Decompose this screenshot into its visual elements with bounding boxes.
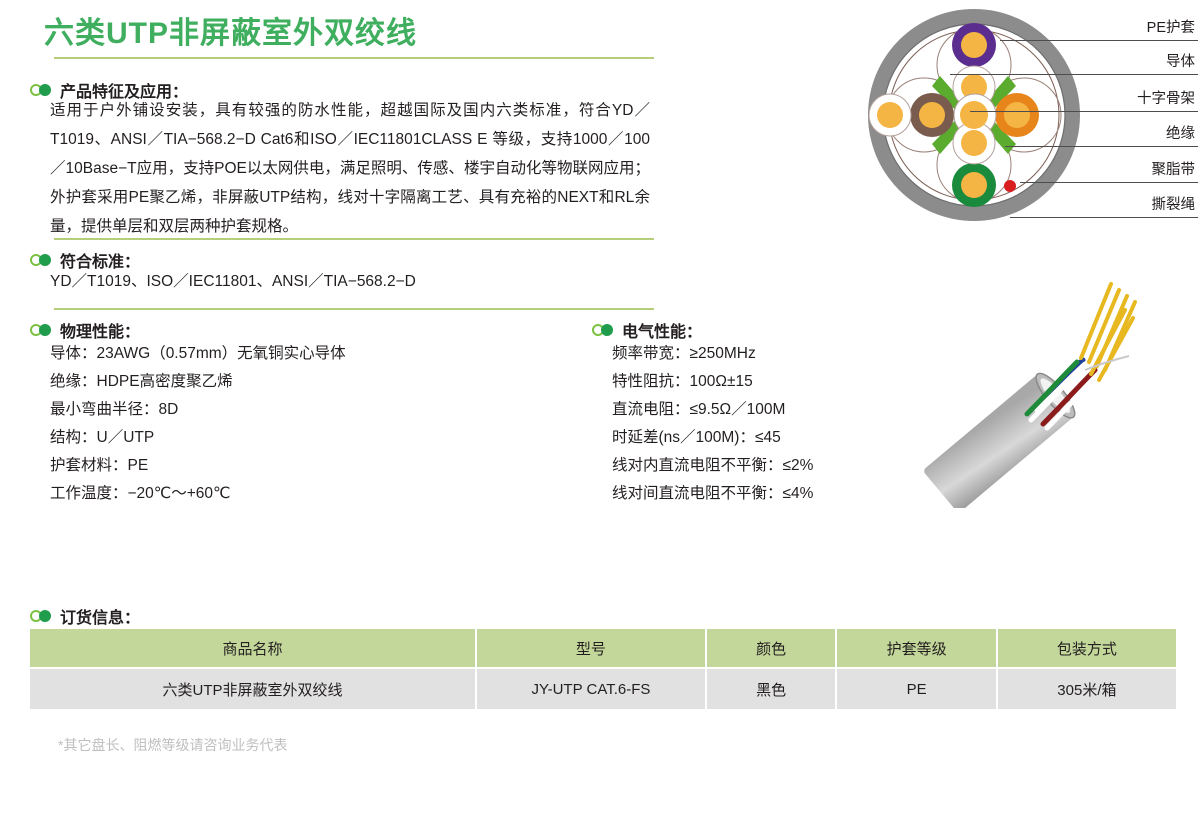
list-item: 护套材料：PE bbox=[50, 452, 346, 480]
list-item: 导体：23AWG（0.57mm）无氧铜实心导体 bbox=[50, 340, 346, 368]
cell-product-name: 六类UTP非屏蔽室外双绞线 bbox=[30, 669, 475, 709]
leader-line bbox=[970, 111, 1198, 112]
column-header: 护套等级 bbox=[837, 629, 995, 667]
column-header: 包装方式 bbox=[998, 629, 1176, 667]
list-item: 特性阻抗：100Ω±15 bbox=[612, 368, 813, 396]
list-item: 结构：U／UTP bbox=[50, 424, 346, 452]
leader-line bbox=[1005, 146, 1198, 147]
cable-photo bbox=[885, 278, 1185, 508]
leader-line bbox=[950, 74, 1198, 75]
list-item: 线对内直流电阻不平衡：≤2% bbox=[612, 452, 813, 480]
callout-label: 导体 bbox=[1166, 50, 1195, 71]
callout-label: 绝缘 bbox=[1166, 122, 1195, 143]
callout-label: 聚脂带 bbox=[1152, 158, 1196, 179]
list-item: 直流电阻：≤9.5Ω／100M bbox=[612, 396, 813, 424]
datasheet-page: 六类UTP非屏蔽室外双绞线 产品特征及应用： 适用于户外铺设安装，具有较强的防水… bbox=[0, 0, 1200, 827]
divider-physical bbox=[54, 308, 654, 310]
cell-model: JY-UTP CAT.6-FS bbox=[477, 669, 705, 709]
section-heading-electrical: 电气性能： bbox=[592, 318, 702, 342]
page-title: 六类UTP非屏蔽室外双绞线 bbox=[44, 8, 417, 52]
column-header: 颜色 bbox=[707, 629, 836, 667]
table-header-row: 商品名称 型号 颜色 护套等级 包装方式 bbox=[30, 629, 1176, 667]
bullet-icon bbox=[30, 84, 56, 96]
callout-label: 十字骨架 bbox=[1137, 87, 1195, 108]
leader-line bbox=[1020, 182, 1198, 183]
column-header: 型号 bbox=[477, 629, 705, 667]
leader-line bbox=[1010, 217, 1198, 218]
section-heading-physical: 物理性能： bbox=[30, 318, 140, 342]
physical-list: 导体：23AWG（0.57mm）无氧铜实心导体 绝缘：HDPE高密度聚乙烯 最小… bbox=[50, 340, 346, 508]
order-information-table: 商品名称 型号 颜色 护套等级 包装方式 六类UTP非屏蔽室外双绞线 JY-UT… bbox=[28, 627, 1178, 711]
diagram-callouts: PE护套 导体 十字骨架 绝缘 聚脂带 撕裂绳 bbox=[1040, 0, 1198, 225]
list-item: 频率带宽：≥250MHz bbox=[612, 340, 813, 368]
column-header: 商品名称 bbox=[30, 629, 475, 667]
divider-top bbox=[54, 57, 654, 59]
bullet-icon bbox=[30, 254, 56, 266]
cell-packaging: 305米/箱 bbox=[998, 669, 1176, 709]
callout-label: PE护套 bbox=[1147, 16, 1195, 37]
bullet-icon bbox=[592, 324, 618, 336]
list-item: 线对间直流电阻不平衡：≤4% bbox=[612, 480, 813, 508]
callout-label: 撕裂绳 bbox=[1152, 193, 1196, 214]
section-heading-order: 订货信息： bbox=[30, 604, 140, 628]
bullet-icon bbox=[30, 324, 56, 336]
list-item: 最小弯曲半径：8D bbox=[50, 396, 346, 424]
bullet-icon bbox=[30, 610, 56, 622]
list-item: 绝缘：HDPE高密度聚乙烯 bbox=[50, 368, 346, 396]
standards-value: YD／T1019、ISO／IEC11801、ANSI／TIA−568.2−D bbox=[50, 268, 416, 296]
table-row: 六类UTP非屏蔽室外双绞线 JY-UTP CAT.6-FS 黑色 PE 305米… bbox=[30, 669, 1176, 709]
order-footnote: *其它盘长、阻燃等级请咨询业务代表 bbox=[58, 735, 287, 755]
electrical-list: 频率带宽：≥250MHz 特性阻抗：100Ω±15 直流电阻：≤9.5Ω／100… bbox=[612, 340, 813, 508]
list-item: 时延差(ns／100M)：≤45 bbox=[612, 424, 813, 452]
features-paragraph: 适用于户外铺设安装，具有较强的防水性能，超越国际及国内六类标准，符合YD／T10… bbox=[50, 96, 650, 241]
cell-jacket-grade: PE bbox=[837, 669, 995, 709]
cell-color: 黑色 bbox=[707, 669, 836, 709]
leader-line bbox=[1000, 40, 1198, 41]
list-item: 工作温度：−20℃～+60℃ bbox=[50, 480, 346, 508]
